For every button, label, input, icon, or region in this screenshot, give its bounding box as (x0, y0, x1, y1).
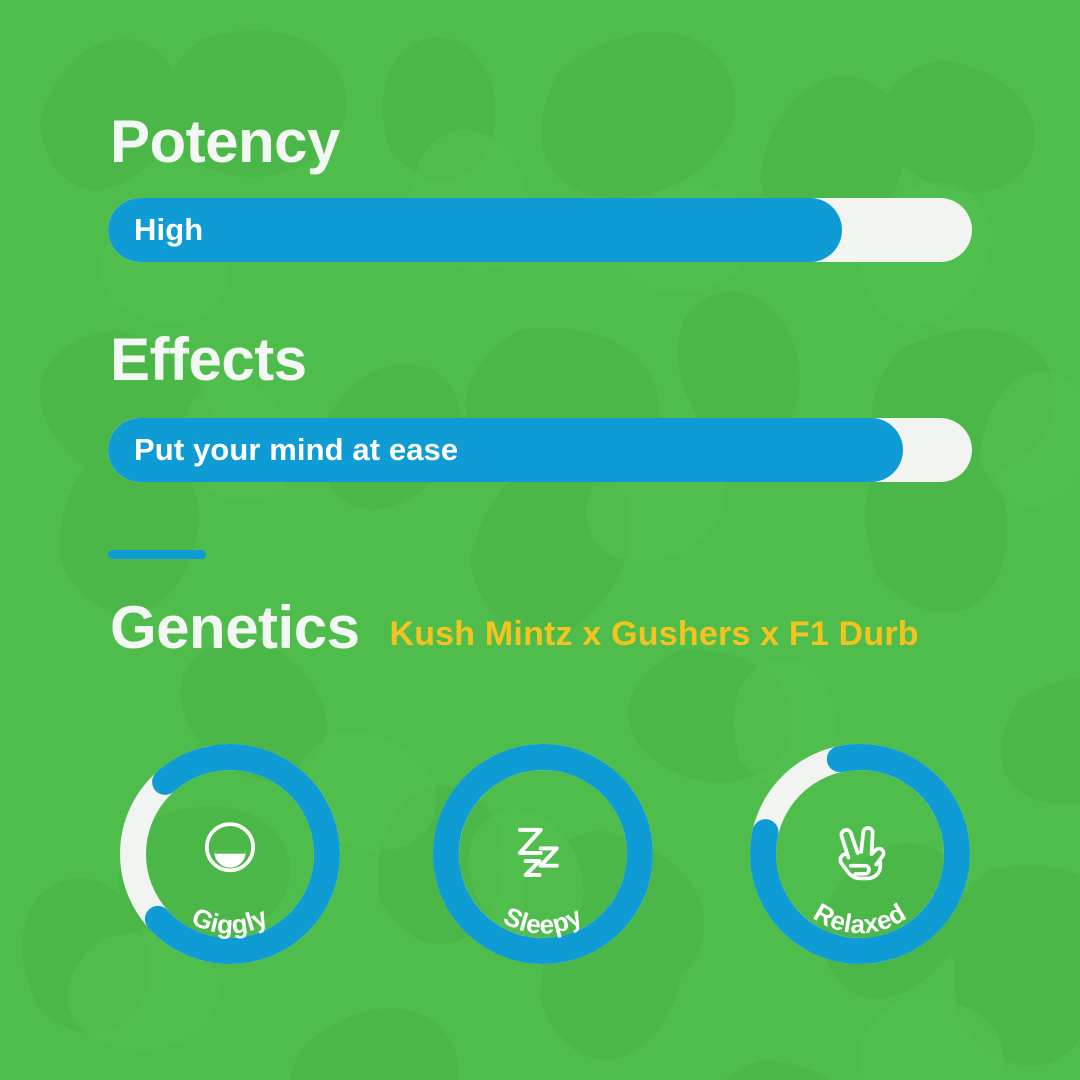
potency-meter-track[interactable]: High (108, 198, 972, 262)
genetics-heading: Genetics (110, 598, 359, 658)
sleepy-caption: Sleepy (429, 740, 657, 968)
genetics-row: Genetics Kush Mintz x Gushers x F1 Durb (110, 598, 919, 658)
effects-meter-label: Put your mind at ease (108, 418, 458, 482)
effect-rings-group: Giggly Sleepy (0, 740, 1080, 970)
genetics-value: Kush Mintz x Gushers x F1 Durb (389, 617, 918, 651)
effect-ring-sleepy[interactable]: Sleepy (429, 740, 657, 968)
effects-heading: Effects (110, 330, 307, 390)
svg-text:Sleepy: Sleepy (499, 901, 587, 940)
effect-ring-label: Giggly (188, 901, 273, 940)
giggly-caption: Giggly (116, 740, 344, 968)
svg-text:Giggly: Giggly (188, 901, 273, 940)
section-divider (108, 550, 206, 559)
effect-ring-label: Sleepy (499, 901, 587, 940)
strain-info-card: Potency High Effects Put your mind at ea… (0, 0, 1080, 1080)
potency-meter-label: High (108, 198, 203, 262)
relaxed-caption: Relaxed (746, 740, 974, 968)
effect-ring-label: Relaxed (809, 897, 911, 939)
effects-meter-track[interactable]: Put your mind at ease (108, 418, 972, 482)
effect-ring-relaxed[interactable]: Relaxed (746, 740, 974, 968)
svg-text:Relaxed: Relaxed (809, 897, 911, 939)
potency-meter-fill (108, 198, 842, 262)
effect-ring-giggly[interactable]: Giggly (116, 740, 344, 968)
potency-heading: Potency (110, 112, 340, 172)
